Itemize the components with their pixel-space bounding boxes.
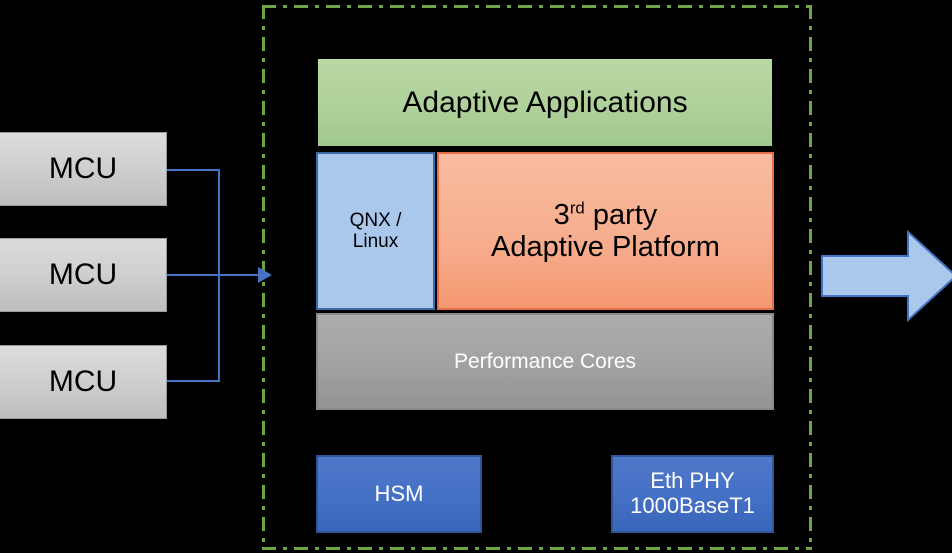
eth-phy-label: Eth PHY 1000BaseT1 xyxy=(630,469,755,518)
eth-phy-label-line2: 1000BaseT1 xyxy=(630,494,755,519)
output-arrow-shape xyxy=(822,232,952,320)
diagram-canvas: MCU MCU MCU Adaptive Applications QNX / … xyxy=(0,0,952,553)
performance-cores-label: Performance Cores xyxy=(454,350,636,374)
hsm-label-line1: HSM xyxy=(375,482,424,507)
hsm-block[interactable]: HSM xyxy=(316,455,482,533)
mcu-block-2[interactable]: MCU xyxy=(0,238,167,312)
mcu-label-1: MCU xyxy=(49,152,117,186)
mcu-block-1[interactable]: MCU xyxy=(0,132,167,206)
mcu-bus-arrowhead xyxy=(258,267,272,283)
adaptive-applications-block[interactable]: Adaptive Applications xyxy=(316,57,774,148)
hsm-label: HSM xyxy=(375,482,424,507)
os-label-line1: QNX / xyxy=(350,210,402,231)
mcu-bus-connector xyxy=(160,155,280,400)
eth-phy-label-line1: Eth PHY xyxy=(630,469,755,494)
adaptive-applications-label: Adaptive Applications xyxy=(402,86,687,120)
os-label: QNX / Linux xyxy=(350,210,402,253)
platform-party-text: party xyxy=(585,199,658,231)
platform-ordinal-number: 3 xyxy=(554,199,570,231)
adaptive-platform-label: 3rd party Adaptive Platform xyxy=(491,199,720,264)
mcu-block-3[interactable]: MCU xyxy=(0,345,167,419)
mcu-label-2: MCU xyxy=(49,258,117,292)
os-label-line2: Linux xyxy=(350,231,402,252)
adaptive-platform-block[interactable]: 3rd party Adaptive Platform xyxy=(437,152,774,310)
adaptive-platform-label-line2: Adaptive Platform xyxy=(491,231,720,263)
eth-phy-block[interactable]: Eth PHY 1000BaseT1 xyxy=(611,455,774,533)
adaptive-platform-label-line1: 3rd party xyxy=(491,199,720,231)
os-block[interactable]: QNX / Linux xyxy=(316,152,435,310)
output-arrow-icon xyxy=(820,228,952,324)
performance-cores-block[interactable]: Performance Cores xyxy=(316,313,774,410)
platform-ordinal-suffix: rd xyxy=(570,198,585,217)
mcu-label-3: MCU xyxy=(49,365,117,399)
